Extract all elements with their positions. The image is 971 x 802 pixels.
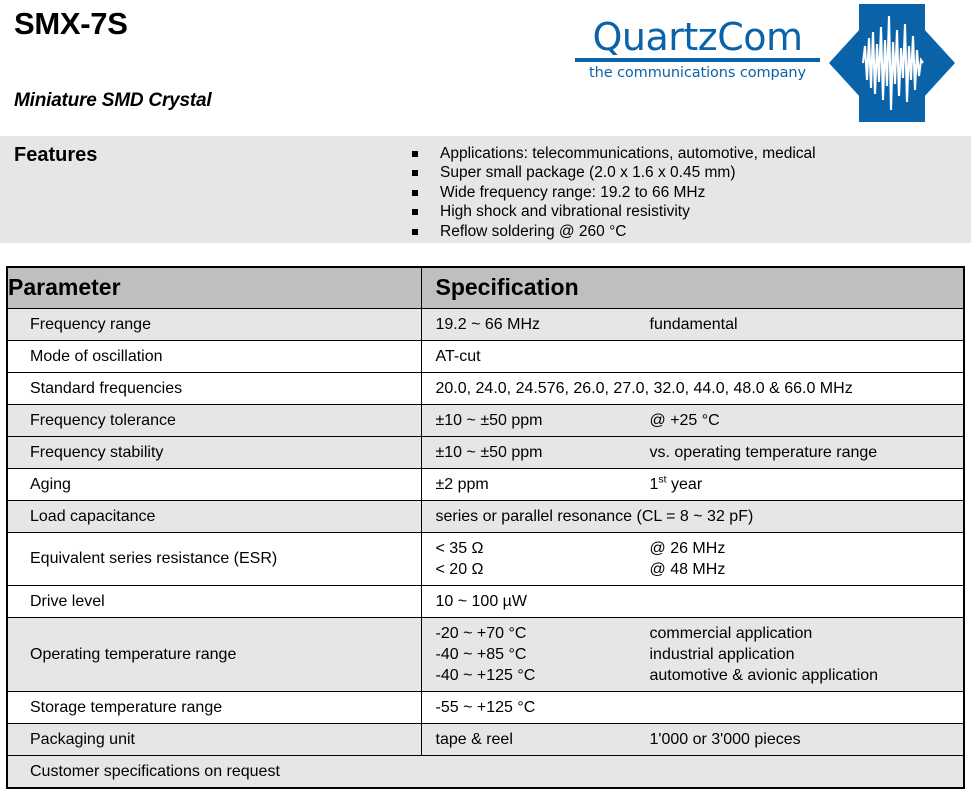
specification-value: -20 ~ +70 °Ccommercial application-40 ~ … bbox=[422, 618, 964, 691]
page-title: SMX-7S bbox=[14, 6, 128, 42]
bullet-square-icon bbox=[412, 170, 418, 176]
table-row: Equivalent series resistance (ESR)< 35 Ω… bbox=[8, 532, 963, 585]
specification-value: ±10 ~ ±50 ppmvs. operating temperature r… bbox=[422, 437, 964, 468]
parameter-label: Load capacitance bbox=[8, 501, 421, 532]
table-row: Storage temperature range-55 ~ +125 °C bbox=[8, 691, 963, 723]
parameter-cell: Drive level bbox=[8, 585, 421, 617]
feature-item: Reflow soldering @ 260 °C bbox=[410, 222, 816, 241]
spec-line: 10 ~ 100 µW bbox=[436, 591, 964, 612]
table-row: Frequency range19.2 ~ 66 MHzfundamental bbox=[8, 308, 963, 340]
spec-note: commercial application bbox=[650, 623, 813, 644]
bullet-square-icon bbox=[412, 229, 418, 235]
customer-spec-note: Customer specifications on request bbox=[8, 756, 963, 787]
table-row: Packaging unittape & reel1'000 or 3'000 … bbox=[8, 723, 963, 755]
specification-cell: 19.2 ~ 66 MHzfundamental bbox=[421, 308, 963, 340]
specification-cell: AT-cut bbox=[421, 340, 963, 372]
specification-table: Parameter Specification Frequency range1… bbox=[6, 266, 965, 789]
specification-cell: < 35 Ω@ 26 MHz< 20 Ω@ 48 MHz bbox=[421, 532, 963, 585]
table-row: Aging±2 ppm1st year bbox=[8, 468, 963, 500]
parameter-cell: Frequency stability bbox=[8, 436, 421, 468]
specification-cell: -55 ~ +125 °C bbox=[421, 691, 963, 723]
bullet-square-icon bbox=[412, 209, 418, 215]
spec-line: ±2 ppm1st year bbox=[436, 474, 964, 495]
specification-value: ±10 ~ ±50 ppm@ +25 °C bbox=[422, 405, 964, 436]
parameter-cell: Operating temperature range bbox=[8, 617, 421, 691]
table-row: Standard frequencies20.0, 24.0, 24.576, … bbox=[8, 372, 963, 404]
parameter-cell: Packaging unit bbox=[8, 723, 421, 755]
superscript: st bbox=[658, 473, 666, 485]
specification-value: 19.2 ~ 66 MHzfundamental bbox=[422, 309, 964, 340]
specification-cell: ±2 ppm1st year bbox=[421, 468, 963, 500]
spec-note: fundamental bbox=[650, 314, 738, 335]
parameter-label: Frequency tolerance bbox=[8, 405, 421, 436]
parameter-cell: Storage temperature range bbox=[8, 691, 421, 723]
table-header-row: Parameter Specification bbox=[8, 268, 963, 308]
table-row: Frequency tolerance±10 ~ ±50 ppm@ +25 °C bbox=[8, 404, 963, 436]
feature-item-label: Applications: telecommunications, automo… bbox=[440, 145, 816, 162]
specification-cell: series or parallel resonance (CL = 8 ~ 3… bbox=[421, 500, 963, 532]
specification-cell: -20 ~ +70 °Ccommercial application-40 ~ … bbox=[421, 617, 963, 691]
table-row: Operating temperature range-20 ~ +70 °Cc… bbox=[8, 617, 963, 691]
customer-spec-note-cell: Customer specifications on request bbox=[8, 755, 963, 787]
spec-line: ±10 ~ ±50 ppmvs. operating temperature r… bbox=[436, 442, 964, 463]
table-row: Frequency stability±10 ~ ±50 ppmvs. oper… bbox=[8, 436, 963, 468]
parameter-label: Drive level bbox=[8, 586, 421, 617]
company-logo: QuartzCom the communications company bbox=[575, 2, 955, 124]
bullet-square-icon bbox=[412, 151, 418, 157]
table-row: Load capacitanceseries or parallel reson… bbox=[8, 500, 963, 532]
parameter-label: Standard frequencies bbox=[8, 373, 421, 404]
specification-value: < 35 Ω@ 26 MHz< 20 Ω@ 48 MHz bbox=[422, 533, 964, 585]
specification-cell: ±10 ~ ±50 ppmvs. operating temperature r… bbox=[421, 436, 963, 468]
table-footer-row: Customer specifications on request bbox=[8, 755, 963, 787]
feature-item: Super small package (2.0 x 1.6 x 0.45 mm… bbox=[410, 163, 816, 182]
spec-value: ±10 ~ ±50 ppm bbox=[436, 410, 650, 431]
parameter-cell: Load capacitance bbox=[8, 500, 421, 532]
spec-note: @ +25 °C bbox=[650, 410, 720, 431]
page-header: SMX-7S Miniature SMD Crystal QuartzCom t… bbox=[0, 0, 971, 136]
spec-line: 19.2 ~ 66 MHzfundamental bbox=[436, 314, 964, 335]
spec-value: < 20 Ω bbox=[436, 559, 650, 580]
specification-cell: tape & reel1'000 or 3'000 pieces bbox=[421, 723, 963, 755]
spec-line: tape & reel1'000 or 3'000 pieces bbox=[436, 729, 964, 750]
spec-value: tape & reel bbox=[436, 729, 650, 750]
spec-note: @ 26 MHz bbox=[650, 538, 726, 559]
specification-cell: ±10 ~ ±50 ppm@ +25 °C bbox=[421, 404, 963, 436]
spec-line: AT-cut bbox=[436, 346, 964, 367]
spec-line: ±10 ~ ±50 ppm@ +25 °C bbox=[436, 410, 964, 431]
spec-note: 1'000 or 3'000 pieces bbox=[650, 729, 801, 750]
spec-value: < 35 Ω bbox=[436, 538, 650, 559]
spec-line: < 35 Ω@ 26 MHz bbox=[436, 538, 964, 559]
parameter-cell: Frequency tolerance bbox=[8, 404, 421, 436]
features-list: Applications: telecommunications, automo… bbox=[410, 144, 816, 241]
spec-note: automotive & avionic application bbox=[650, 665, 879, 686]
specification-value: series or parallel resonance (CL = 8 ~ 3… bbox=[422, 501, 964, 532]
specification-value: AT-cut bbox=[422, 341, 964, 372]
feature-item: Applications: telecommunications, automo… bbox=[410, 144, 816, 163]
logo-company-name: QuartzCom bbox=[575, 18, 820, 56]
table-row: Mode of oscillationAT-cut bbox=[8, 340, 963, 372]
column-header-parameter: Parameter bbox=[8, 268, 421, 308]
spec-value: 20.0, 24.0, 24.576, 26.0, 27.0, 32.0, 44… bbox=[436, 378, 853, 399]
column-header-specification: Specification bbox=[421, 268, 963, 308]
parameter-label: Frequency range bbox=[8, 309, 421, 340]
spec-note: industrial application bbox=[650, 644, 795, 665]
table-row: Drive level10 ~ 100 µW bbox=[8, 585, 963, 617]
spec-value: -20 ~ +70 °C bbox=[436, 623, 650, 644]
features-band: Features Applications: telecommunication… bbox=[0, 136, 971, 243]
spec-value: -55 ~ +125 °C bbox=[436, 697, 650, 718]
spec-line: 20.0, 24.0, 24.576, 26.0, 27.0, 32.0, 44… bbox=[436, 378, 964, 399]
feature-item-label: High shock and vibrational resistivity bbox=[440, 203, 690, 220]
features-heading: Features bbox=[14, 144, 97, 167]
waveform-logo-icon bbox=[829, 2, 955, 124]
spec-value: -40 ~ +85 °C bbox=[436, 644, 650, 665]
spec-note: 1st year bbox=[650, 474, 703, 495]
product-subtitle: Miniature SMD Crystal bbox=[14, 90, 211, 112]
parameter-label: Operating temperature range bbox=[8, 639, 421, 670]
feature-item-label: Wide frequency range: 19.2 to 66 MHz bbox=[440, 184, 705, 201]
spec-line: -40 ~ +85 °Cindustrial application bbox=[436, 644, 964, 665]
parameter-cell: Frequency range bbox=[8, 308, 421, 340]
parameter-cell: Aging bbox=[8, 468, 421, 500]
spec-note: @ 48 MHz bbox=[650, 559, 726, 580]
specification-value: -55 ~ +125 °C bbox=[422, 692, 964, 723]
spec-value: ±2 ppm bbox=[436, 474, 650, 495]
feature-item-label: Reflow soldering @ 260 °C bbox=[440, 223, 627, 240]
parameter-cell: Standard frequencies bbox=[8, 372, 421, 404]
spec-line: -40 ~ +125 °Cautomotive & avionic applic… bbox=[436, 665, 964, 686]
spec-value: -40 ~ +125 °C bbox=[436, 665, 650, 686]
parameter-label: Aging bbox=[8, 469, 421, 500]
feature-item: High shock and vibrational resistivity bbox=[410, 202, 816, 221]
parameter-cell: Mode of oscillation bbox=[8, 340, 421, 372]
parameter-label: Frequency stability bbox=[8, 437, 421, 468]
specification-value: tape & reel1'000 or 3'000 pieces bbox=[422, 724, 964, 755]
spec-line: < 20 Ω@ 48 MHz bbox=[436, 559, 964, 580]
feature-item-label: Super small package (2.0 x 1.6 x 0.45 mm… bbox=[440, 164, 736, 181]
specification-value: ±2 ppm1st year bbox=[422, 469, 964, 500]
specification-cell: 20.0, 24.0, 24.576, 26.0, 27.0, 32.0, 44… bbox=[421, 372, 963, 404]
spec-line: -20 ~ +70 °Ccommercial application bbox=[436, 623, 964, 644]
parameter-label: Storage temperature range bbox=[8, 692, 421, 723]
logo-tagline: the communications company bbox=[575, 65, 820, 81]
feature-item: Wide frequency range: 19.2 to 66 MHz bbox=[410, 183, 816, 202]
parameter-label: Packaging unit bbox=[8, 724, 421, 755]
spec-line: series or parallel resonance (CL = 8 ~ 3… bbox=[436, 506, 964, 527]
spec-value: 19.2 ~ 66 MHz bbox=[436, 314, 650, 335]
specification-value: 10 ~ 100 µW bbox=[422, 586, 964, 617]
spec-value: AT-cut bbox=[436, 346, 650, 367]
bullet-square-icon bbox=[412, 190, 418, 196]
specification-cell: 10 ~ 100 µW bbox=[421, 585, 963, 617]
spec-value: 10 ~ 100 µW bbox=[436, 591, 650, 612]
parameter-label: Equivalent series resistance (ESR) bbox=[8, 543, 421, 574]
spec-line: -55 ~ +125 °C bbox=[436, 697, 964, 718]
specification-value: 20.0, 24.0, 24.576, 26.0, 27.0, 32.0, 44… bbox=[422, 373, 964, 404]
spec-value: ±10 ~ ±50 ppm bbox=[436, 442, 650, 463]
parameter-cell: Equivalent series resistance (ESR) bbox=[8, 532, 421, 585]
spec-value: series or parallel resonance (CL = 8 ~ 3… bbox=[436, 506, 754, 527]
spec-note: vs. operating temperature range bbox=[650, 442, 878, 463]
parameter-label: Mode of oscillation bbox=[8, 341, 421, 372]
logo-wordmark: QuartzCom the communications company bbox=[575, 18, 820, 81]
